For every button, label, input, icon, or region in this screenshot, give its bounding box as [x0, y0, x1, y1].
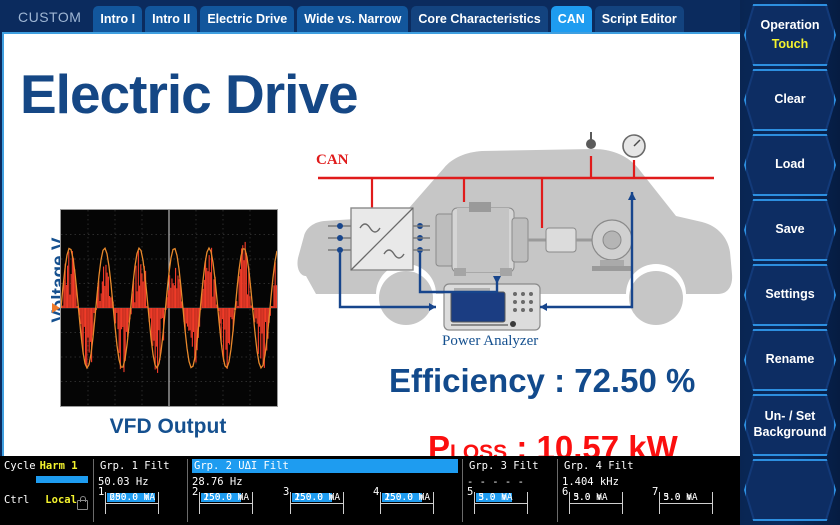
channel-number: 4 — [373, 486, 379, 498]
waveform-svg — [61, 210, 277, 406]
ploss-value: : 10.57 kW — [507, 429, 678, 456]
custom-label: CUSTOM — [0, 9, 93, 32]
group-3[interactable]: Grp. 3 Filt - - - - - — [467, 459, 541, 488]
sidebar-button-empty[interactable] — [744, 459, 836, 521]
current-value: 600.0 mA — [109, 492, 155, 503]
current-value: 5.0 mA — [478, 492, 512, 503]
status-divider-3 — [462, 459, 463, 522]
channel-number: 6 — [562, 486, 568, 498]
car-wheel-front — [629, 271, 683, 325]
car-wheel-rear — [379, 271, 433, 325]
tab-wide-vs-narrow[interactable]: Wide vs. Narrow — [297, 6, 408, 32]
cycle-value: Harm 1 — [40, 460, 78, 472]
cycle-row: Cycle Harm 1 — [4, 460, 90, 472]
group-1-header: Grp. 1 Filt — [98, 459, 172, 473]
scope-cursor-marker — [52, 303, 60, 313]
channel-number: 1 — [98, 486, 104, 498]
content-stage: Electric Drive — [2, 32, 740, 456]
scope-panel: Voltage V — [32, 209, 277, 449]
diagram-svg: CAN Power Analyzer — [294, 116, 734, 351]
sidebar-label-unset-line1: Un- / Set — [765, 409, 816, 425]
app-root: CUSTOM Intro I Intro II Electric Drive W… — [0, 0, 840, 525]
group-2-header: Grp. 2 UΔI Filt — [192, 459, 458, 473]
channel-number: 2 — [192, 486, 198, 498]
status-divider-4 — [557, 459, 558, 522]
sidebar-label-settings: Settings — [765, 287, 814, 303]
ctrl-label: Ctrl — [4, 494, 29, 506]
ploss-prefix: P — [428, 429, 450, 456]
tab-can[interactable]: CAN — [551, 6, 592, 32]
channel-5[interactable]: 53.0 V5.0 mA — [467, 486, 528, 498]
right-sidebar: Operation Touch Clear Load Save Settings… — [740, 0, 840, 525]
scope-caption: VFD Output — [60, 415, 276, 439]
meter-mid-line — [199, 503, 253, 504]
cycle-control-group[interactable]: Cycle Harm 1 Ctrl Local — [4, 460, 90, 506]
meter-mid-line — [569, 503, 623, 504]
status-bar: Cycle Harm 1 Ctrl Local Grp. 1 Filt 50.0… — [0, 456, 740, 525]
can-label: CAN — [316, 152, 349, 168]
group-1[interactable]: Grp. 1 Filt 50.03 Hz — [98, 459, 172, 488]
current-value: 5.0 mA — [663, 492, 697, 503]
sidebar-label-unset-line2: Background — [754, 425, 827, 441]
channel-7[interactable]: 73.0 V5.0 mA — [652, 486, 713, 498]
cycle-label: Cycle — [4, 460, 36, 472]
channel-1[interactable]: 1250.0 V600.0 mA — [98, 486, 159, 498]
sidebar-label-clear: Clear — [774, 92, 805, 108]
sidebar-button-clear[interactable]: Clear — [744, 69, 836, 131]
hex-fill — [746, 6, 834, 64]
current-value: 150.0 mA — [384, 492, 430, 503]
channel-2[interactable]: 2250.0 V150.0 mA — [192, 486, 253, 498]
ploss-subscript: LOSS — [450, 441, 507, 456]
group-4[interactable]: Grp. 4 Filt 1.404 kHz — [562, 459, 636, 488]
sidebar-button-unset-background[interactable]: Un- / Set Background — [744, 394, 836, 456]
waveform-display[interactable] — [60, 209, 278, 407]
ctrl-value: Local — [45, 494, 77, 506]
tab-electric-drive[interactable]: Electric Drive — [200, 6, 294, 32]
status-divider-2 — [187, 459, 188, 522]
sidebar-button-operation[interactable]: Operation Touch — [744, 4, 836, 66]
lock-icon[interactable] — [77, 500, 88, 510]
group-4-header: Grp. 4 Filt — [562, 459, 636, 473]
vehicle-diagram: CAN Power Analyzer — [294, 116, 734, 351]
channel-number: 7 — [652, 486, 658, 498]
sidebar-label-operation: Operation — [760, 18, 819, 34]
sidebar-label-save: Save — [775, 222, 804, 238]
sidebar-label-load: Load — [775, 157, 805, 173]
meter-mid-line — [290, 503, 344, 504]
tab-script-editor[interactable]: Script Editor — [595, 6, 684, 32]
sidebar-label-rename: Rename — [766, 352, 815, 368]
tab-bar: CUSTOM Intro I Intro II Electric Drive W… — [0, 0, 740, 32]
tab-intro-ii[interactable]: Intro II — [145, 6, 197, 32]
current-value: 5.0 mA — [573, 492, 607, 503]
sidebar-button-load[interactable]: Load — [744, 134, 836, 196]
meter-mid-line — [105, 503, 159, 504]
meter-mid-line — [659, 503, 713, 504]
sidebar-sublabel-touch: Touch — [772, 37, 809, 53]
group-3-header: Grp. 3 Filt — [467, 459, 541, 473]
channel-6[interactable]: 63.0 V5.0 mA — [562, 486, 623, 498]
channel-number: 5 — [467, 486, 473, 498]
arrow-analyzer-left — [429, 303, 436, 311]
sidebar-button-rename[interactable]: Rename — [744, 329, 836, 391]
status-divider-1 — [93, 459, 94, 522]
tab-core-characteristics[interactable]: Core Characteristics — [411, 6, 547, 32]
meter-mid-line — [380, 503, 434, 504]
coupling — [546, 228, 576, 252]
arrow-analyzer-right — [540, 303, 547, 311]
hex-fill — [746, 461, 834, 519]
channel-4[interactable]: 4250.0 V150.0 mA — [373, 486, 434, 498]
power-loss-readout: PLOSS : 10.57 kW — [428, 429, 678, 456]
cycle-progress-bar — [36, 476, 88, 483]
sidebar-button-save[interactable]: Save — [744, 199, 836, 261]
sidebar-button-settings[interactable]: Settings — [744, 264, 836, 326]
power-analyzer-label: Power Analyzer — [442, 333, 538, 349]
current-value: 150.0 mA — [203, 492, 249, 503]
channel-3[interactable]: 3250.0 V150.0 mA — [283, 486, 344, 498]
efficiency-readout: Efficiency : 72.50 % — [389, 362, 695, 400]
group-2[interactable]: Grp. 2 UΔI Filt 28.76 Hz — [192, 459, 458, 488]
meter-mid-line — [474, 503, 528, 504]
channel-number: 3 — [283, 486, 289, 498]
tab-intro-i[interactable]: Intro I — [93, 6, 142, 32]
current-value: 150.0 mA — [294, 492, 340, 503]
